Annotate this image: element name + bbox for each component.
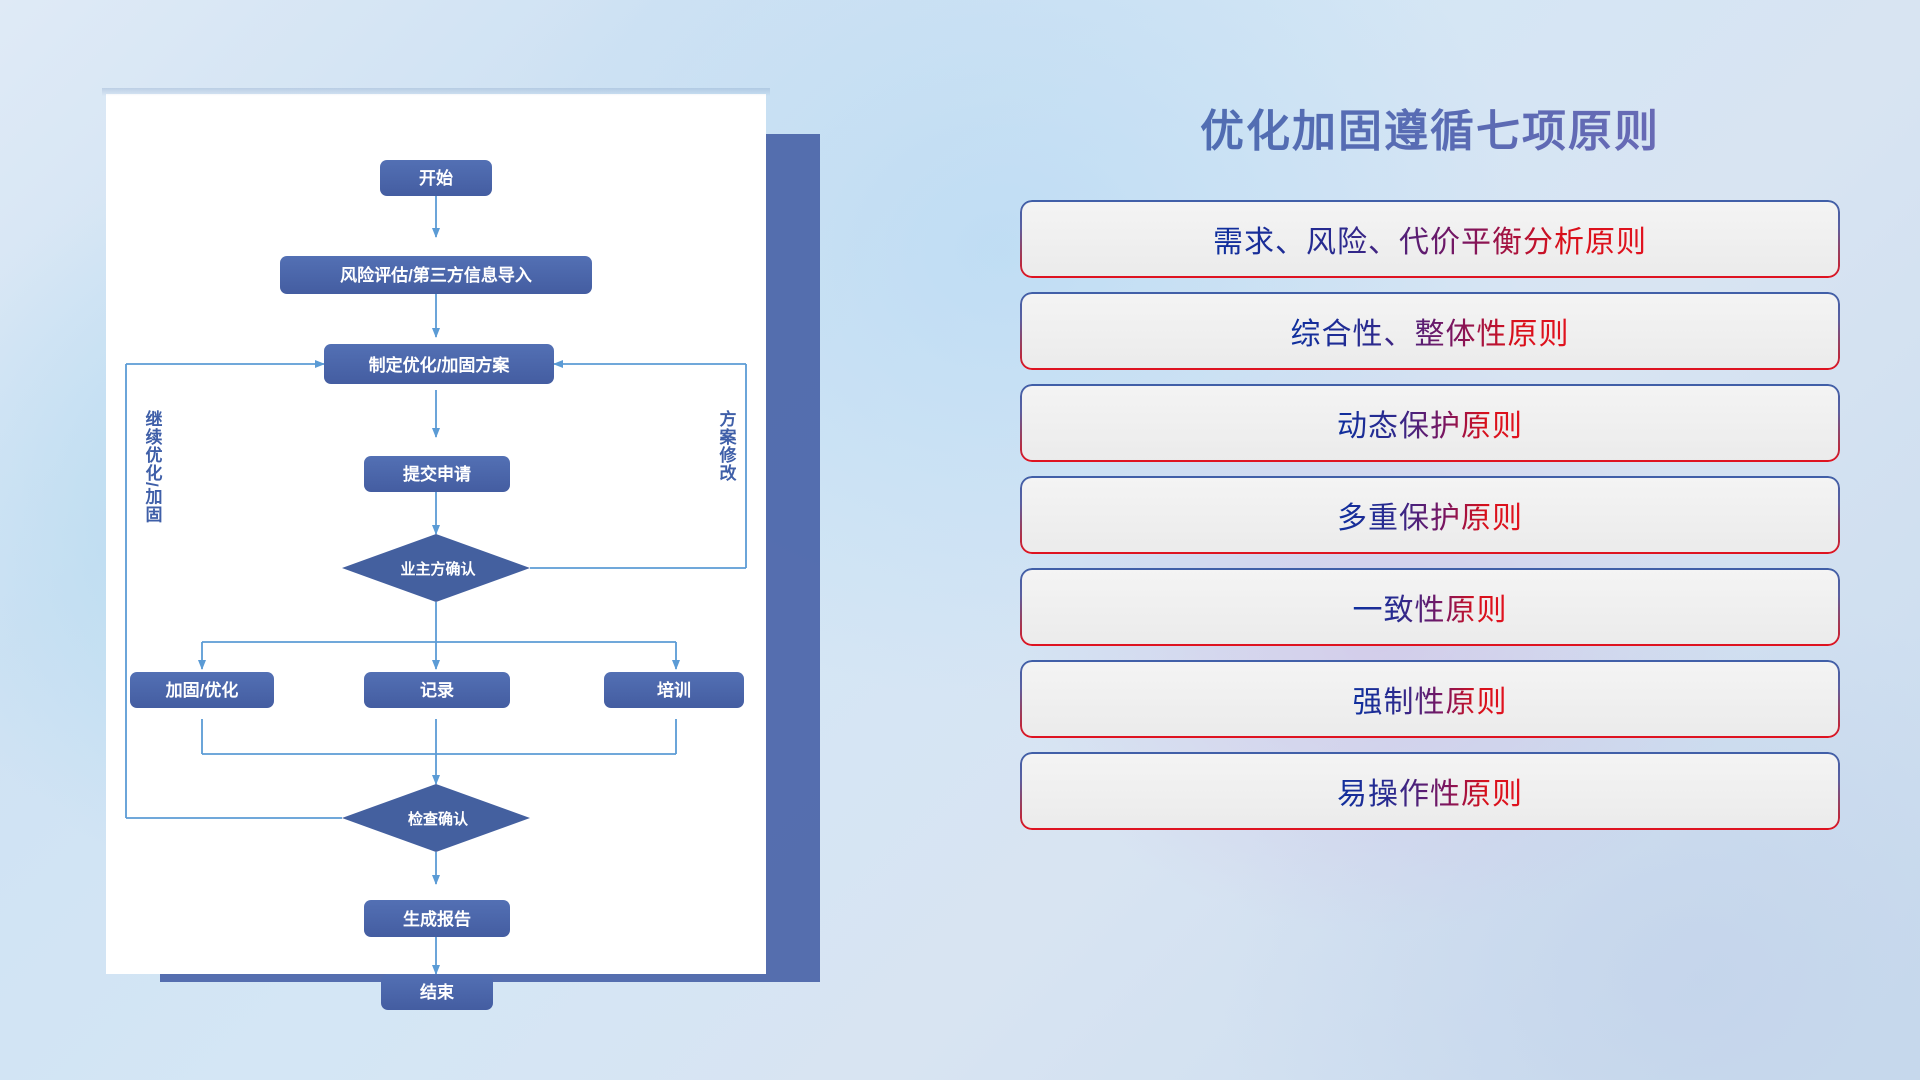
principle-item-6[interactable]: 强制性原则	[1020, 660, 1840, 738]
flow-node-start[interactable]: 开始	[380, 160, 492, 196]
flow-node-check-confirm-label: 检查确认	[408, 810, 469, 828]
flow-node-training[interactable]: 培训	[604, 672, 744, 708]
flow-edge-label-continue-optimize: 继续优化/加固	[143, 409, 164, 524]
principle-label-4: 多重保护原则	[1337, 493, 1523, 537]
flow-node-owner-confirm-label: 业主方确认	[400, 560, 476, 578]
flowchart-svg: 开始 风险评估/第三方信息导入 制定优化/加固方案 提交申请 业主方确认	[106, 94, 766, 974]
flow-node-plan-label: 制定优化/加固方案	[369, 355, 511, 375]
flowchart-card: 开始 风险评估/第三方信息导入 制定优化/加固方案 提交申请 业主方确认	[106, 94, 766, 974]
flow-node-training-label: 培训	[657, 680, 691, 700]
principle-label-3: 动态保护原则	[1337, 401, 1523, 445]
flow-node-check-confirm[interactable]: 检查确认	[342, 784, 530, 852]
flow-node-record[interactable]: 记录	[364, 672, 510, 708]
principle-item-1[interactable]: 需求、风险、代价平衡分析原则	[1020, 200, 1840, 278]
principle-item-2[interactable]: 综合性、整体性原则	[1020, 292, 1840, 370]
principle-label-6: 强制性原则	[1353, 677, 1508, 721]
flow-node-reinforce[interactable]: 加固/优化	[130, 672, 274, 708]
principle-item-4[interactable]: 多重保护原则	[1020, 476, 1840, 554]
flow-node-owner-confirm[interactable]: 业主方确认	[342, 534, 530, 602]
principle-item-3[interactable]: 动态保护原则	[1020, 384, 1840, 462]
principles-title: 优化加固遵循七项原则	[1020, 80, 1840, 156]
flow-node-report[interactable]: 生成报告	[364, 900, 510, 937]
principle-item-5[interactable]: 一致性原则	[1020, 568, 1840, 646]
flow-node-risk-assessment[interactable]: 风险评估/第三方信息导入	[280, 256, 592, 294]
flow-edge-label-plan-revision: 方案修改	[717, 409, 738, 482]
principles-list: 需求、风险、代价平衡分析原则 综合性、整体性原则 动态保护原则 多重保护原则 一…	[1020, 200, 1840, 830]
flow-node-submit-label: 提交申请	[403, 464, 471, 484]
flowchart-svg-footer: 结束	[106, 960, 766, 1020]
flow-node-report-label: 生成报告	[403, 909, 471, 929]
flow-node-submit[interactable]: 提交申请	[364, 456, 510, 492]
flow-node-record-label: 记录	[420, 681, 454, 700]
principles-panel: 优化加固遵循七项原则 需求、风险、代价平衡分析原则 综合性、整体性原则 动态保护…	[1020, 80, 1840, 1020]
flow-node-risk-assessment-label: 风险评估/第三方信息导入	[340, 265, 532, 285]
slide-canvas: 开始 风险评估/第三方信息导入 制定优化/加固方案 提交申请 业主方确认	[0, 0, 1920, 1080]
flow-node-end[interactable]: 结束	[381, 974, 493, 1010]
flow-node-reinforce-label: 加固/优化	[165, 680, 239, 700]
principle-label-2: 综合性、整体性原则	[1291, 309, 1570, 353]
flow-node-plan[interactable]: 制定优化/加固方案	[324, 344, 554, 384]
flow-node-end-label: 结束	[420, 982, 454, 1002]
flow-node-start-label: 开始	[419, 168, 453, 188]
principle-item-7[interactable]: 易操作性原则	[1020, 752, 1840, 830]
principle-label-1: 需求、风险、代价平衡分析原则	[1213, 217, 1647, 261]
principle-label-5: 一致性原则	[1353, 585, 1508, 629]
principle-label-7: 易操作性原则	[1337, 769, 1523, 813]
